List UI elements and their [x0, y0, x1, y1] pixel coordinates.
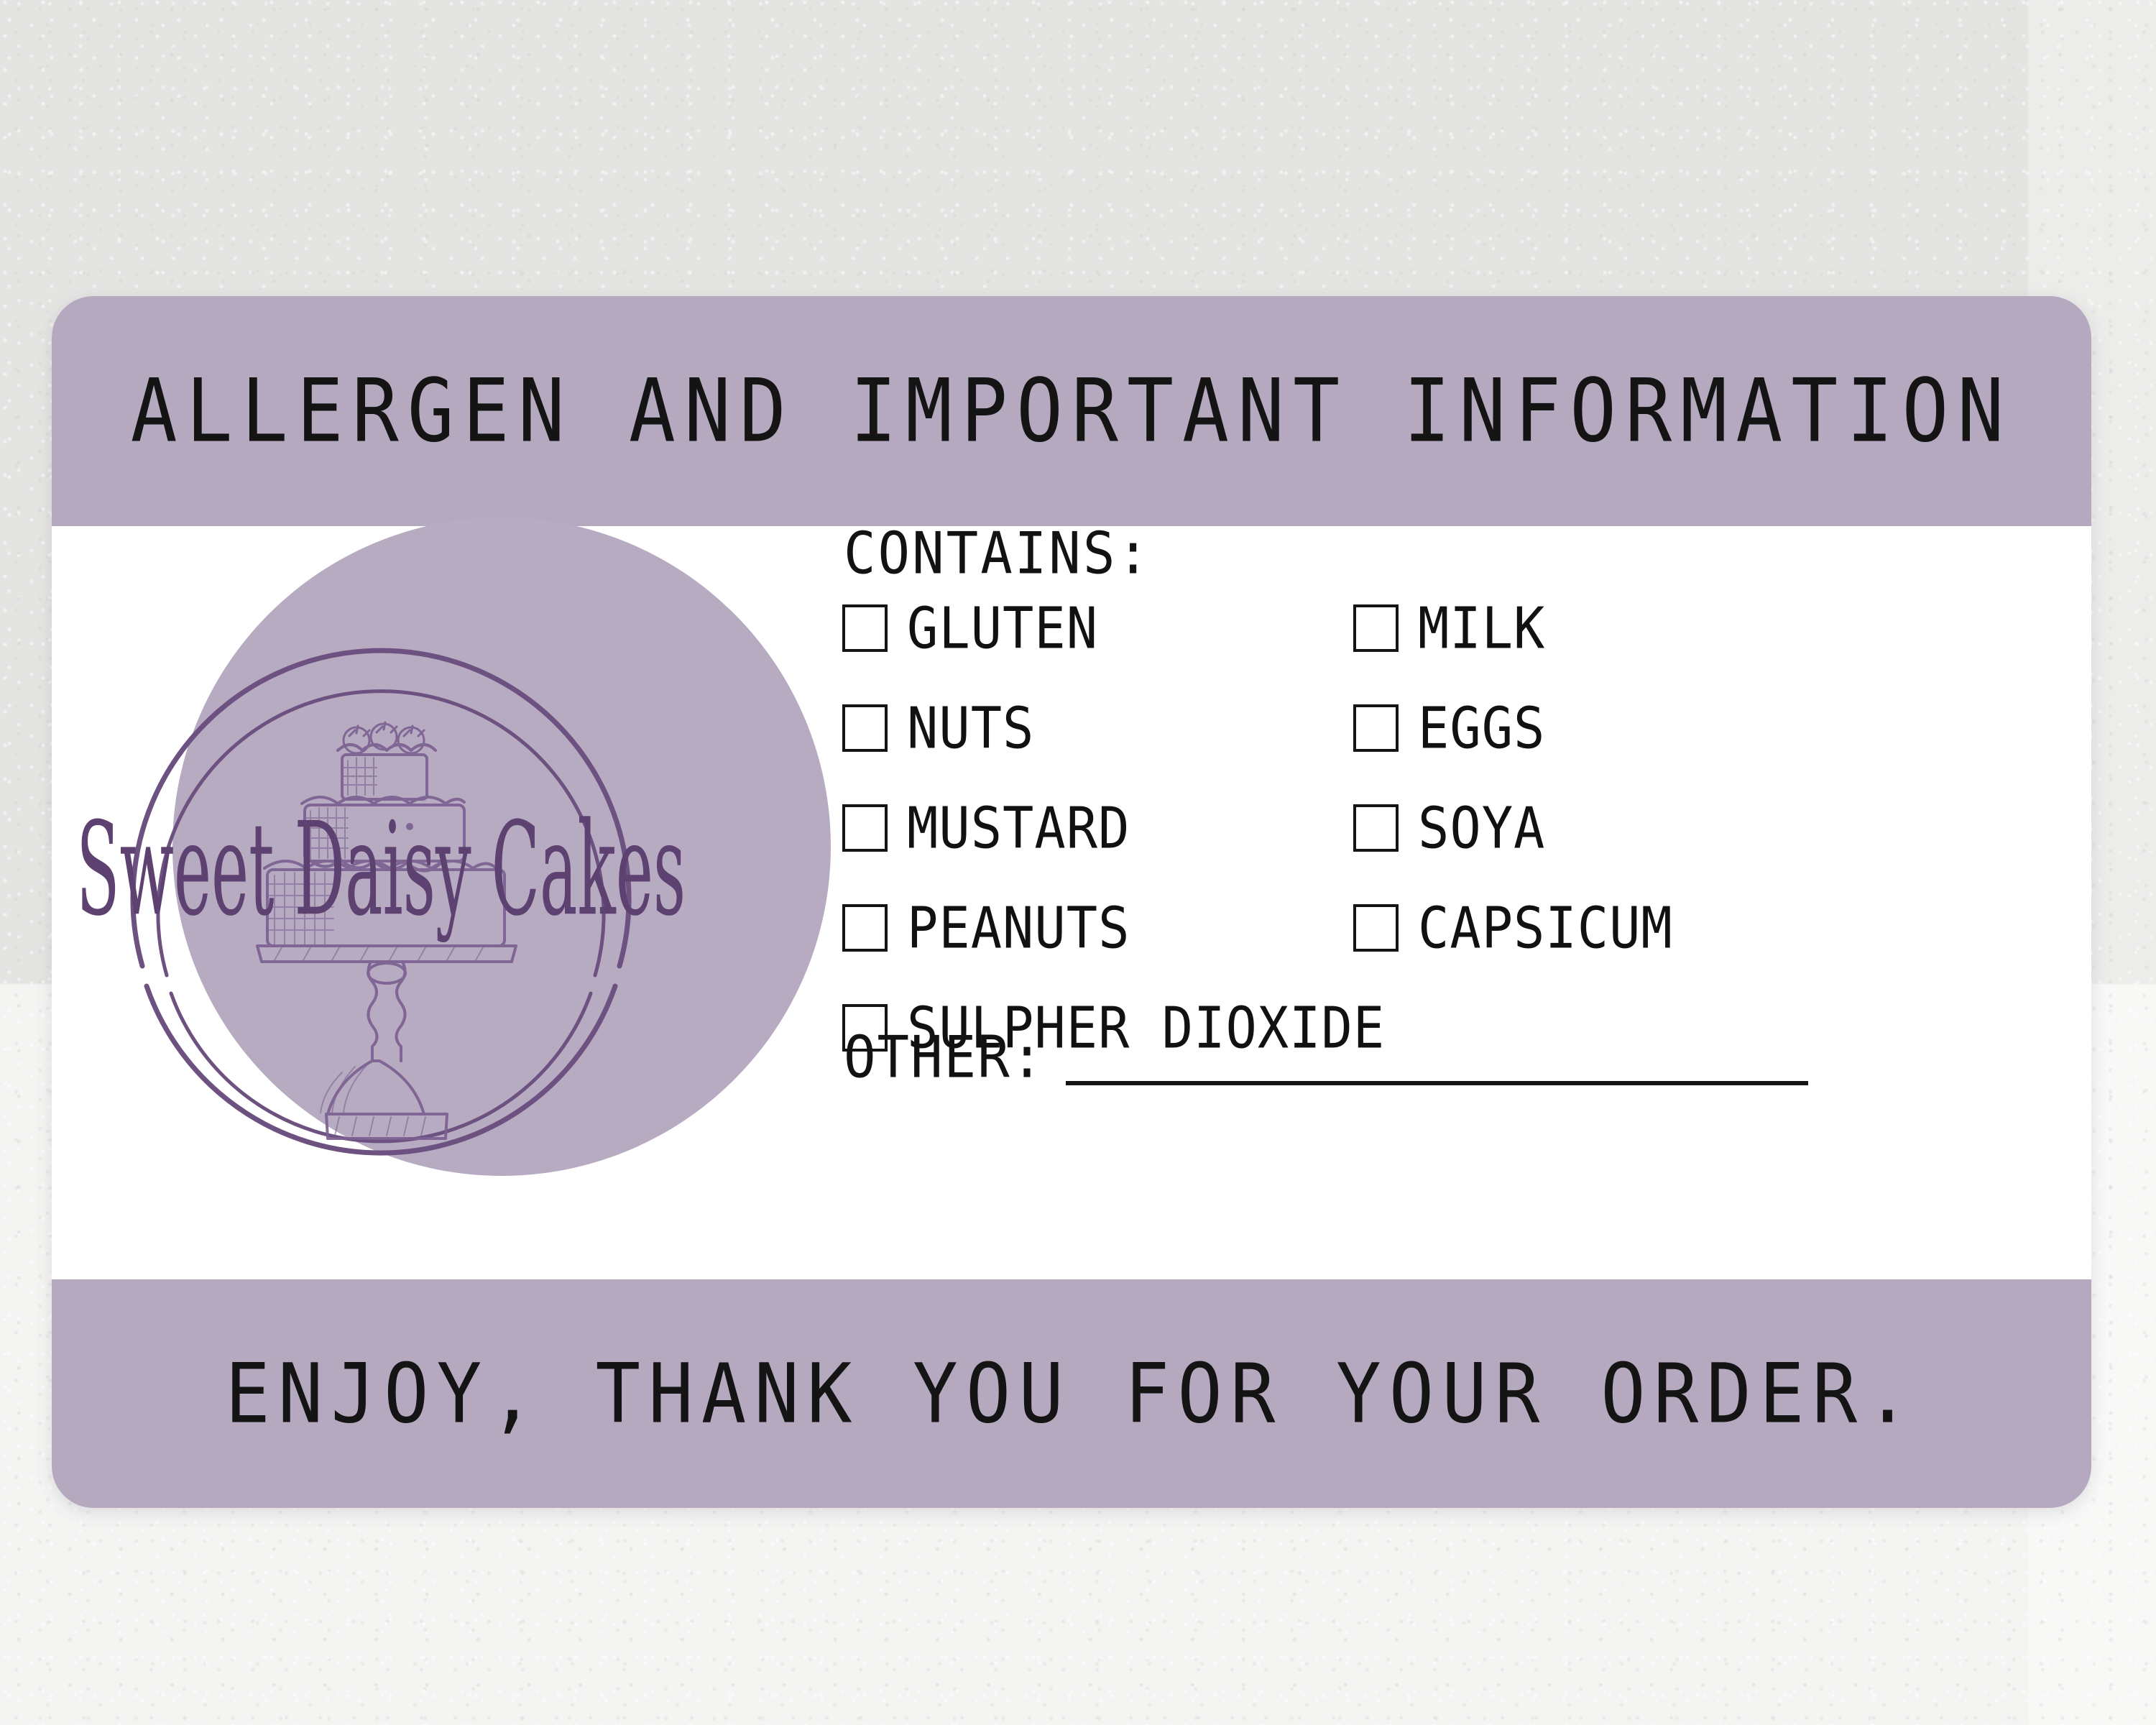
checkbox-row: GLUTEN MILK — [842, 602, 1805, 702]
checkbox-row: PEANUTS CAPSICUM — [842, 902, 1805, 1002]
checkbox-icon[interactable] — [1353, 604, 1399, 652]
checkbox-item-capsicum[interactable]: CAPSICUM — [1353, 902, 1673, 954]
checkbox-label: PEANUTS — [907, 899, 1130, 956]
checkbox-icon[interactable] — [1353, 904, 1399, 952]
checkbox-label: MILK — [1418, 599, 1545, 656]
checkbox-icon[interactable] — [842, 904, 888, 952]
checkbox-item-eggs[interactable]: EGGS — [1353, 702, 1545, 754]
footer-message: ENJOY, THANK YOU FOR YOUR ORDER. — [225, 1345, 1918, 1442]
contains-label: CONTAINS: — [844, 520, 1151, 587]
checkbox-label: EGGS — [1418, 699, 1545, 756]
other-field-row: OTHER: — [844, 1029, 1814, 1091]
brand-logo: Sweet Daisy Cakes — [52, 526, 842, 1279]
checkbox-label: GLUTEN — [907, 599, 1098, 656]
checkbox-label: MUSTARD — [907, 799, 1130, 856]
other-label: OTHER: — [844, 1024, 1044, 1091]
other-input-line[interactable] — [1066, 1081, 1808, 1085]
checkbox-icon[interactable] — [1353, 704, 1399, 752]
checkbox-icon[interactable] — [1353, 804, 1399, 852]
checkbox-item-peanuts[interactable]: PEANUTS — [842, 902, 1353, 954]
checkbox-item-gluten[interactable]: GLUTEN — [842, 602, 1353, 654]
page-title: ALLERGEN AND IMPORTANT INFORMATION — [131, 361, 2013, 461]
checkbox-item-mustard[interactable]: MUSTARD — [842, 802, 1353, 854]
checkbox-label: SOYA — [1418, 799, 1545, 856]
logo-wordmark: Sweet Daisy Cakes — [76, 795, 686, 944]
allergen-checklist: CONTAINS: GLUTEN MILK NUTS — [842, 526, 2091, 1279]
label-body: Sweet Daisy Cakes CONTAINS: GLUTEN MILK — [52, 526, 2091, 1279]
checkbox-item-milk[interactable]: MILK — [1353, 602, 1545, 654]
checkbox-icon[interactable] — [842, 804, 888, 852]
checkbox-label: NUTS — [907, 699, 1034, 756]
checkbox-icon[interactable] — [842, 704, 888, 752]
label-footer-band: ENJOY, THANK YOU FOR YOUR ORDER. — [52, 1279, 2091, 1508]
checkbox-icon[interactable] — [842, 604, 888, 652]
checkbox-row: MUSTARD SOYA — [842, 802, 1805, 902]
label-header-band: ALLERGEN AND IMPORTANT INFORMATION — [52, 296, 2091, 526]
checkbox-row: NUTS EGGS — [842, 702, 1805, 802]
checkbox-label: CAPSICUM — [1418, 899, 1673, 956]
checkbox-item-nuts[interactable]: NUTS — [842, 702, 1353, 754]
allergen-label-card: ALLERGEN AND IMPORTANT INFORMATION — [52, 296, 2091, 1508]
checkbox-item-soya[interactable]: SOYA — [1353, 802, 1545, 854]
logo-artwork: Sweet Daisy Cakes — [52, 526, 710, 1184]
